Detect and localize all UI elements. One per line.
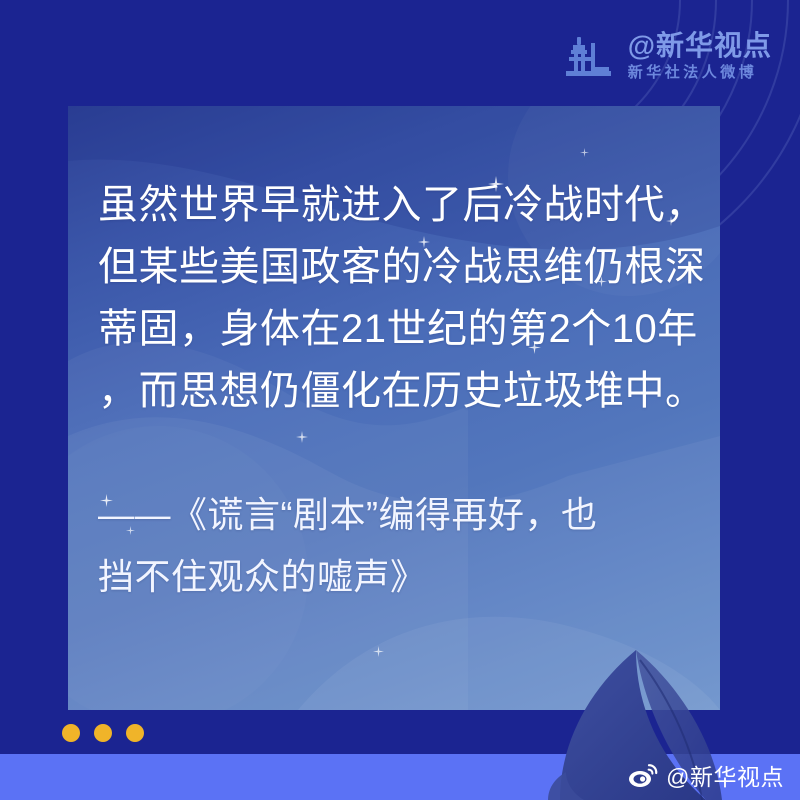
header-logo: @新华视点 新华社法人微博 <box>564 32 772 80</box>
attribution-block: ——《谎言“剧本”编得再好，也 挡不住观众的嘘声》 <box>98 484 698 608</box>
weibo-watermark: @新华视点 <box>628 758 784 792</box>
weibo-handle: @新华视点 <box>666 758 784 792</box>
poster-canvas: @新华视点 新华社法人微博 <box>0 0 800 800</box>
quote-card: 虽然世界早就进入了后冷战时代， 但某些美国政客的冷战思维仍根深 蒂固，身体在21… <box>68 106 720 710</box>
attribution-line: ——《谎言“剧本”编得再好，也 <box>98 484 698 546</box>
quote-line: ，而思想仍僵化在历史垃圾堆中。 <box>98 360 698 422</box>
attribution-line: 挡不住观众的嘘声》 <box>98 546 698 608</box>
dot-indicator <box>62 724 80 742</box>
quote-line: 但某些美国政客的冷战思维仍根深 <box>98 236 698 298</box>
quote-text-block: 虽然世界早就进入了后冷战时代， 但某些美国政客的冷战思维仍根深 蒂固，身体在21… <box>98 174 698 608</box>
header-logo-text: @新华视点 新华社法人微博 <box>628 32 772 80</box>
quote-line: 虽然世界早就进入了后冷战时代， <box>98 174 698 236</box>
dot-indicator <box>126 724 144 742</box>
quote-line: 蒂固，身体在21世纪的第2个10年 <box>98 298 698 360</box>
header-subtitle: 新华社法人微博 <box>628 65 772 80</box>
weibo-icon <box>628 762 658 788</box>
xinhua-tower-logo-icon <box>564 33 618 79</box>
dot-indicator-row <box>62 724 144 742</box>
header-handle: @新华视点 <box>628 32 772 60</box>
dot-indicator <box>94 724 112 742</box>
